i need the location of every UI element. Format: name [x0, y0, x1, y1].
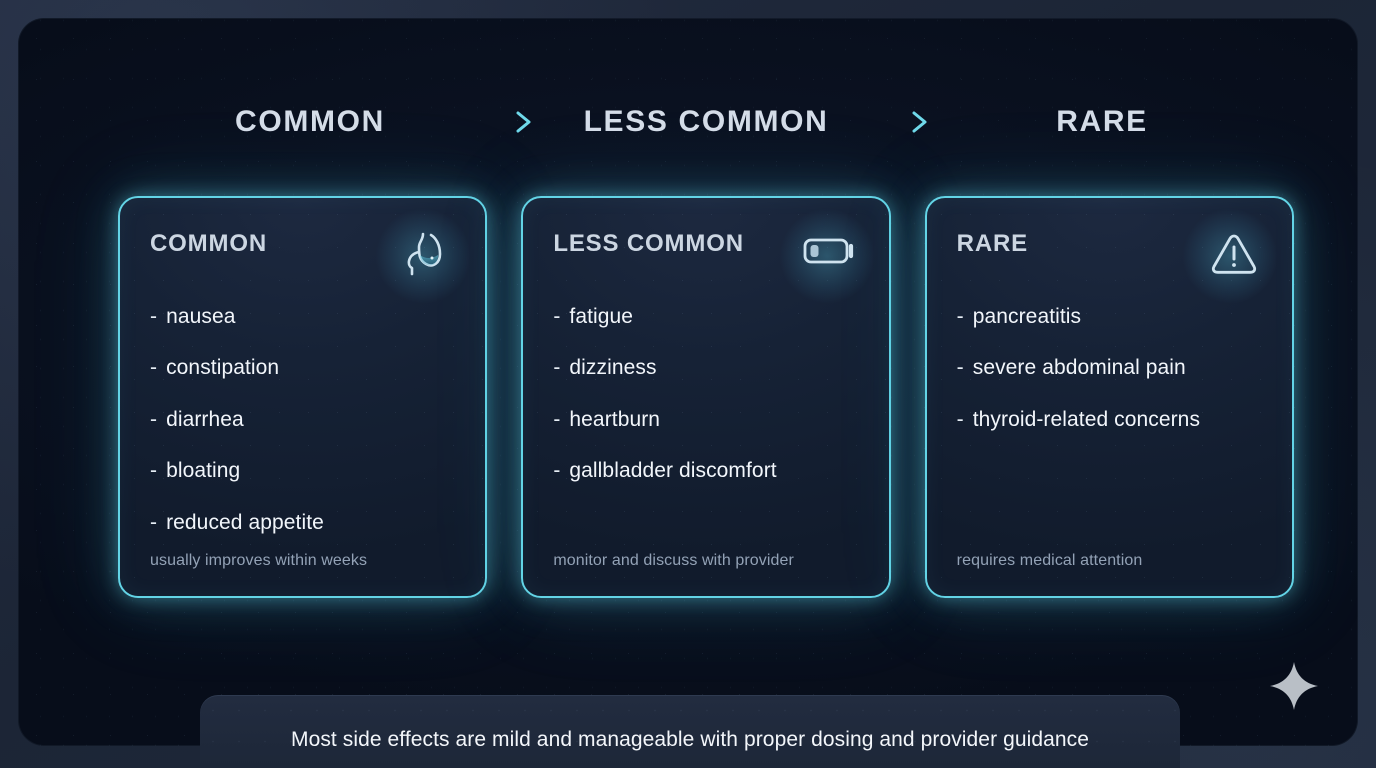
- list-item: - reduced appetite: [150, 510, 455, 536]
- warning-triangle-icon: [1202, 228, 1262, 284]
- list-item: - heartburn: [553, 407, 858, 433]
- list-item-label: diarrhea: [166, 407, 455, 433]
- list-item: - diarrhea: [150, 407, 455, 433]
- battery-low-icon: [799, 228, 859, 284]
- card-less-common-title: LESS COMMON: [553, 228, 744, 256]
- list-item: - fatigue: [553, 304, 858, 330]
- list-item-label: constipation: [166, 355, 455, 381]
- list-item-label: fatigue: [569, 304, 858, 330]
- card-rare[interactable]: RARE - pancreatitis - severe: [925, 196, 1294, 598]
- bullet-dash: -: [150, 510, 157, 536]
- stage-label-less-common: LESS COMMON: [556, 105, 856, 139]
- summary-banner: Most side effects are mild and manageabl…: [200, 695, 1180, 768]
- card-common-list: - nausea - constipation - diarrhea - blo…: [150, 304, 455, 536]
- bullet-dash: -: [957, 355, 964, 381]
- bullet-dash: -: [957, 407, 964, 433]
- list-item: - bloating: [150, 458, 455, 484]
- stage-label-rare: RARE: [952, 105, 1252, 139]
- card-rare-head: RARE: [957, 228, 1262, 290]
- list-item-label: bloating: [166, 458, 455, 484]
- stage-header: COMMON LESS COMMON: [118, 94, 1294, 150]
- bullet-dash: -: [957, 304, 964, 330]
- bullet-dash: -: [553, 355, 560, 381]
- card-common-note: usually improves within weeks: [150, 552, 367, 570]
- card-less-common[interactable]: LESS COMMON - fatigue - dizzi: [521, 196, 890, 598]
- card-common-title: COMMON: [150, 228, 267, 256]
- card-rare-note: requires medical attention: [957, 552, 1143, 570]
- list-item-label: heartburn: [569, 407, 858, 433]
- list-item: - gallbladder discomfort: [553, 458, 858, 484]
- bullet-dash: -: [150, 355, 157, 381]
- list-item: - nausea: [150, 304, 455, 330]
- card-rare-title: RARE: [957, 228, 1028, 256]
- list-item: - dizziness: [553, 355, 858, 381]
- list-item-label: pancreatitis: [973, 304, 1262, 330]
- card-rare-list: - pancreatitis - severe abdominal pain -…: [957, 304, 1262, 433]
- bullet-dash: -: [553, 304, 560, 330]
- list-item: - severe abdominal pain: [957, 355, 1262, 381]
- sparkle-icon: [1268, 660, 1320, 712]
- list-item: - constipation: [150, 355, 455, 381]
- bullet-dash: -: [150, 407, 157, 433]
- bullet-dash: -: [553, 407, 560, 433]
- list-item-label: severe abdominal pain: [973, 355, 1262, 381]
- list-item: - pancreatitis: [957, 304, 1262, 330]
- card-common[interactable]: COMMON: [118, 196, 487, 598]
- card-less-common-list: - fatigue - dizziness - heartburn - gall…: [553, 304, 858, 485]
- card-less-common-note: monitor and discuss with provider: [553, 552, 794, 570]
- card-less-common-head: LESS COMMON: [553, 228, 858, 290]
- main-panel: COMMON LESS COMMON: [18, 18, 1358, 746]
- bullet-dash: -: [150, 304, 157, 330]
- list-item-label: reduced appetite: [166, 510, 455, 536]
- stage-label-common: COMMON: [160, 105, 460, 139]
- arrow-right-icon: [460, 109, 556, 135]
- bullet-dash: -: [553, 458, 560, 484]
- stomach-icon: [395, 228, 455, 284]
- list-item-label: nausea: [166, 304, 455, 330]
- bullet-dash: -: [150, 458, 157, 484]
- list-item-label: thyroid-related concerns: [973, 407, 1262, 433]
- list-item-label: dizziness: [569, 355, 858, 381]
- summary-banner-text: Most side effects are mild and manageabl…: [291, 712, 1089, 752]
- list-item-label: gallbladder discomfort: [569, 458, 858, 484]
- card-common-head: COMMON: [150, 228, 455, 290]
- severity-cards: COMMON: [118, 196, 1294, 598]
- arrow-right-icon-2: [856, 109, 952, 135]
- list-item: - thyroid-related concerns: [957, 407, 1262, 433]
